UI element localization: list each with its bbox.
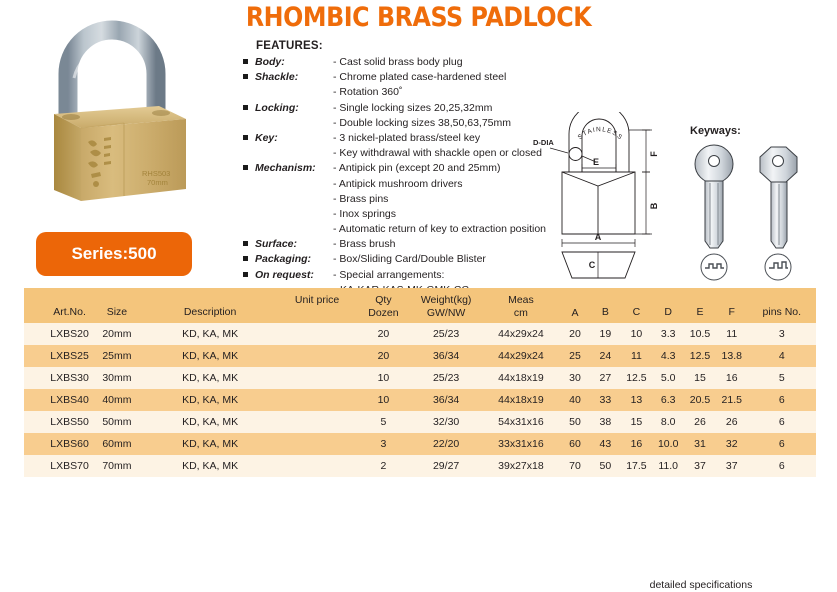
cell-spec-b: 38 [590,411,620,433]
column-header-meas: Meas cm [482,288,560,323]
feature-bullet-icon [243,268,255,283]
cell-spec-f: 13.8 [716,345,748,367]
cell-spec-d: 8.0 [652,411,684,433]
column-header-spec-e: E [684,288,716,323]
cell-qty: 3 [357,433,411,455]
cell-meas: 44x29x24 [482,323,560,345]
cell-unit-price [277,411,356,433]
cell-spec-e: 15 [684,367,716,389]
column-header-weight-line1: Weight(kg) [421,294,472,306]
cell-meas: 39x27x18 [482,455,560,477]
table-row[interactable]: LXBS6060mmKD, KA, MK322/2033x31x16604316… [24,433,816,455]
table-row[interactable]: LXBS2525mmKD, KA, MK2036/3444x29x2425241… [24,345,816,367]
cell-weight: 32/30 [410,411,482,433]
cell-spec-a: 40 [560,389,590,411]
cell-spec-b: 24 [590,345,620,367]
cell-spec-a: 20 [560,323,590,345]
cell-pins-no: 6 [748,411,816,433]
cell-art-no: LXBS70 [24,455,91,477]
cell-pins-no: 6 [748,433,816,455]
feature-bullet-icon [243,55,255,70]
cell-spec-e: 10.5 [684,323,716,345]
cell-pins-no: 5 [748,367,816,389]
keyways-heading: Keyways: [690,125,830,137]
cell-spec-f: 16 [716,367,748,389]
column-header-qty-line1: Qty [375,294,391,306]
cell-spec-e: 37 [684,455,716,477]
cell-spec-b: 33 [590,389,620,411]
cell-description: KD, KA, MK [143,455,278,477]
column-header-description: Description [143,288,278,323]
feature-description: - Inox springs [333,207,533,222]
cell-spec-d: 4.3 [652,345,684,367]
cell-unit-price [277,433,356,455]
feature-row: - Key withdrawal with shackle open or cl… [243,146,533,161]
cell-spec-a: 30 [560,367,590,389]
cell-meas: 44x18x19 [482,367,560,389]
cell-spec-a: 50 [560,411,590,433]
column-header-unit-price: Unit price [277,288,356,323]
column-header-spec-d: D [652,288,684,323]
drawing-label-b: B [649,202,659,209]
column-header-spec-b: B [590,288,620,323]
cell-spec-b: 27 [590,367,620,389]
feature-description: - Brass brush [333,237,533,252]
feature-description: - Automatic return of key to extraction … [333,222,546,237]
cell-pins-no: 3 [748,323,816,345]
cell-spec-a: 25 [560,345,590,367]
cell-pins-no: 6 [748,455,816,477]
feature-row: On request:- Special arrangements: [243,268,533,283]
table-body: LXBS2020mmKD, KA, MK2025/2344x29x2420191… [24,323,816,477]
cell-spec-f: 21.5 [716,389,748,411]
cell-spec-d: 5.0 [652,367,684,389]
cell-weight: 22/20 [410,433,482,455]
cell-art-no: LXBS60 [24,433,91,455]
feature-row: Surface:- Brass brush [243,237,533,252]
column-header-unit-price-label: Unit price [295,294,339,306]
cell-spec-e: 31 [684,433,716,455]
drawing-label-a: A [595,232,602,242]
cell-pins-no: 4 [748,345,816,367]
column-header-art-no: Art.No. [24,288,91,323]
keyway-round [695,145,733,248]
feature-term: Surface: [255,237,333,252]
cell-art-no: LXBS40 [24,389,91,411]
feature-description: - 3 nickel-plated brass/steel key [333,131,533,146]
cell-qty: 2 [357,455,411,477]
cell-unit-price [277,389,356,411]
cell-art-no: LXBS25 [24,345,91,367]
feature-bullet-icon [243,70,255,85]
feature-description: - Double locking sizes 38,50,63,75mm [333,116,533,131]
column-header-pins-no: pins No. [748,288,816,323]
features-section: FEATURES: Body:- Cast solid brass body p… [243,40,533,313]
cell-qty: 20 [357,323,411,345]
specifications-table: Art.No. Size Description Unit price Qty … [24,288,816,477]
feature-term: Packaging: [255,252,333,267]
cell-spec-f: 11 [716,323,748,345]
cell-description: KD, KA, MK [143,411,278,433]
cell-weight: 36/34 [410,345,482,367]
column-header-qty: Qty Dozen [357,288,411,323]
column-header-detailed-specs: detailed specifications [586,579,816,592]
drawing-label-e: E [593,157,599,167]
cell-pins-no: 6 [748,389,816,411]
feature-row: Shackle:- Chrome plated case-hardened st… [243,70,533,85]
feature-row: Key:- 3 nickel-plated brass/steel key [243,131,533,146]
cell-spec-a: 60 [560,433,590,455]
feature-bullet-icon [243,161,255,176]
cell-size: 30mm [91,367,143,389]
feature-row: - Rotation 360˚ [243,85,533,100]
cell-description: KD, KA, MK [143,389,278,411]
series-badge-label: Series:500 [71,244,156,264]
column-header-size: Size [91,288,143,323]
cell-art-no: LXBS20 [24,323,91,345]
photo-engraving-size: 70mm [147,178,168,187]
feature-description: - Chrome plated case-hardened steel [333,70,533,85]
cell-art-no: LXBS50 [24,411,91,433]
drawing-label-d-dia: D-DIA [533,138,554,147]
keyway-profile-badge-round [701,254,727,280]
table-header: Art.No. Size Description Unit price Qty … [24,288,816,323]
feature-bullet-icon [243,131,255,146]
feature-description: - Rotation 360˚ [333,85,533,100]
cell-spec-d: 3.3 [652,323,684,345]
table-header-row: Art.No. Size Description Unit price Qty … [24,288,816,323]
cell-weight: 29/27 [410,455,482,477]
table-row[interactable]: LXBS2020mmKD, KA, MK2025/2344x29x2420191… [24,323,816,345]
cell-spec-c: 16 [621,433,653,455]
column-header-weight: Weight(kg) GW/NW [410,288,482,323]
feature-row: - Brass pins [243,192,533,207]
cell-meas: 54x31x16 [482,411,560,433]
technical-drawing: STAINLESS D-DIA E F [522,112,687,284]
cell-spec-c: 17.5 [621,455,653,477]
cell-meas: 33x31x16 [482,433,560,455]
feature-description: - Cast solid brass body plug [333,55,533,70]
photo-engraving-code: RHS503 [142,169,170,178]
feature-description: - Antipick mushroom drivers [333,177,533,192]
cell-description: KD, KA, MK [143,367,278,389]
cell-qty: 10 [357,389,411,411]
cell-size: 70mm [91,455,143,477]
cell-spec-f: 37 [716,455,748,477]
cell-weight: 25/23 [410,367,482,389]
cell-size: 25mm [91,345,143,367]
cell-unit-price [277,367,356,389]
cell-spec-c: 10 [621,323,653,345]
cell-weight: 25/23 [410,323,482,345]
feature-row: Packaging:- Box/Sliding Card/Double Blis… [243,252,533,267]
cell-art-no: LXBS30 [24,367,91,389]
keyway-profile-badge-octagon [765,254,791,280]
feature-row: - Inox springs [243,207,533,222]
cell-spec-c: 11 [621,345,653,367]
feature-term: Locking: [255,101,333,116]
feature-row: - Automatic return of key to extraction … [243,222,533,237]
cell-meas: 44x29x24 [482,345,560,367]
cell-spec-f: 32 [716,433,748,455]
cell-description: KD, KA, MK [143,433,278,455]
feature-row: - Antipick mushroom drivers [243,177,533,192]
cell-qty: 10 [357,367,411,389]
product-photo: RHS503 70mm [24,18,214,223]
column-header-spec-c: C [621,288,653,323]
cell-description: KD, KA, MK [143,345,278,367]
cell-size: 50mm [91,411,143,433]
cell-size: 60mm [91,433,143,455]
cell-unit-price [277,345,356,367]
cell-size: 40mm [91,389,143,411]
feature-bullet-icon [243,101,255,116]
cell-spec-d: 11.0 [652,455,684,477]
feature-row: - Double locking sizes 38,50,63,75mm [243,116,533,131]
cell-spec-f: 26 [716,411,748,433]
cell-spec-d: 10.0 [652,433,684,455]
cell-unit-price [277,455,356,477]
series-badge: Series:500 [36,232,192,276]
table-row[interactable]: LXBS5050mmKD, KA, MK532/3054x31x16503815… [24,411,816,433]
cell-spec-c: 15 [621,411,653,433]
feature-description: - Box/Sliding Card/Double Blister [333,252,533,267]
table-row[interactable]: LXBS7070mmKD, KA, MK229/2739x27x18705017… [24,455,816,477]
column-header-spec-a: detailed specifications A [560,288,590,323]
cell-unit-price [277,323,356,345]
column-header-weight-line2: GW/NW [427,307,466,319]
cell-meas: 44x18x19 [482,389,560,411]
feature-term: Key: [255,131,333,146]
feature-row: Locking:- Single locking sizes 20,25,32m… [243,101,533,116]
cell-spec-a: 70 [560,455,590,477]
cell-spec-c: 12.5 [621,367,653,389]
cell-qty: 5 [357,411,411,433]
column-header-meas-line1: Meas [508,294,534,306]
column-header-meas-line2: cm [514,307,528,319]
feature-term: Mechanism: [255,161,333,176]
cell-spec-b: 19 [590,323,620,345]
feature-row: Body:- Cast solid brass body plug [243,55,533,70]
feature-description: - Special arrangements: [333,268,533,283]
cell-spec-e: 26 [684,411,716,433]
cell-spec-c: 13 [621,389,653,411]
feature-term: Shackle: [255,70,333,85]
column-header-spec-f: F [716,288,748,323]
feature-bullet-icon [243,237,255,252]
cell-spec-b: 43 [590,433,620,455]
features-heading: FEATURES: [256,40,533,52]
feature-term: Body: [255,55,333,70]
feature-description: - Antipick pin (except 20 and 25mm) [333,161,533,176]
column-header-qty-line2: Dozen [368,307,398,319]
table-row[interactable]: LXBS3030mmKD, KA, MK1025/2344x18x1930271… [24,367,816,389]
drawing-label-c: C [589,260,596,270]
feature-term: On request: [255,268,333,283]
feature-description: - Key withdrawal with shackle open or cl… [333,146,542,161]
drawing-label-f: F [649,151,659,157]
column-header-a: A [571,307,578,319]
feature-description: - Brass pins [333,192,533,207]
cell-spec-e: 20.5 [684,389,716,411]
cell-spec-d: 6.3 [652,389,684,411]
feature-bullet-icon [243,252,255,267]
cell-weight: 36/34 [410,389,482,411]
feature-description: - Single locking sizes 20,25,32mm [333,101,533,116]
cell-description: KD, KA, MK [143,323,278,345]
cell-size: 20mm [91,323,143,345]
features-list: Body:- Cast solid brass body plugShackle… [243,55,533,313]
cell-spec-b: 50 [590,455,620,477]
feature-row: Mechanism:- Antipick pin (except 20 and … [243,161,533,176]
keyway-octagon [760,147,797,248]
keyways-section: Keyways: [690,125,830,285]
table-row[interactable]: LXBS4040mmKD, KA, MK1036/3444x18x1940331… [24,389,816,411]
cell-qty: 20 [357,345,411,367]
cell-spec-e: 12.5 [684,345,716,367]
